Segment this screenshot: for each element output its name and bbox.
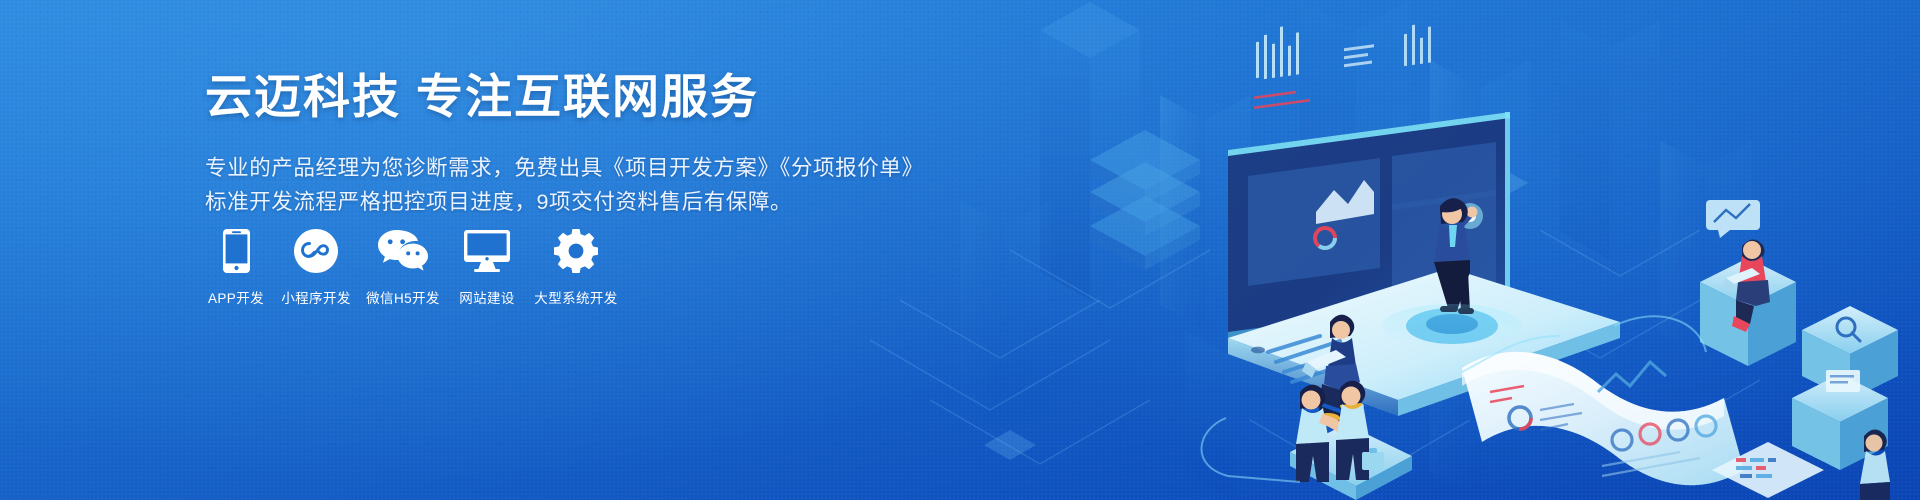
standing-person-right (1860, 429, 1890, 500)
search-cube (1802, 306, 1898, 400)
service-item-website[interactable]: 网站建设 (448, 228, 526, 307)
monitor-icon (464, 228, 510, 274)
promo-banner: 云迈科技 专注互联网服务 专业的产品经理为您诊断需求，免费出具《项目开发方案》《… (0, 0, 1920, 500)
wechat-icon (378, 228, 428, 274)
service-item-large-system[interactable]: 大型系统开发 (528, 228, 624, 307)
seated-person-laptop (1302, 315, 1364, 423)
mobile-phone-icon (223, 228, 250, 274)
flowing-report-sheet (1462, 352, 1744, 485)
service-label: 大型系统开发 (534, 287, 617, 307)
mini-program-icon (294, 228, 338, 274)
code-table-panel (1712, 442, 1824, 498)
service-list: APP开发 小程序开发 (200, 228, 624, 307)
service-item-wechat-h5[interactable]: 微信H5开发 (360, 228, 446, 307)
banner-subtitle: 专业的产品经理为您诊断需求，免费出具《项目开发方案》《分项报价单》 标准开发流程… (205, 151, 905, 219)
two-people-talking (1290, 381, 1412, 500)
server-stack (1090, 130, 1200, 270)
subtitle-line-2: 标准开发流程严格把控项目进度，9项交付资料售后有保障。 (205, 185, 905, 219)
service-label: 小程序开发 (281, 287, 351, 307)
subtitle-line-1: 专业的产品经理为您诊断需求，免费出具《项目开发方案》《分项报价单》 (205, 151, 905, 185)
woman-on-block-laptop (1700, 200, 1796, 366)
standing-person-pointing (1434, 198, 1478, 314)
chart-bubble (1706, 200, 1760, 238)
gear-icon (554, 228, 598, 274)
dashboard-screen (1228, 0, 1510, 338)
service-item-app[interactable]: APP开发 (200, 228, 272, 307)
service-label: 网站建设 (459, 287, 515, 307)
tablet-platform (1228, 268, 1620, 416)
banner-copy: 云迈科技 专注互联网服务 专业的产品经理为您诊断需求，免费出具《项目开发方案》《… (205, 68, 905, 219)
small-screen-block (1792, 370, 1888, 470)
service-label: APP开发 (208, 287, 264, 307)
service-label: 微信H5开发 (366, 287, 440, 307)
service-item-mini-program[interactable]: 小程序开发 (274, 228, 358, 307)
page-title: 云迈科技 专注互联网服务 (205, 68, 905, 127)
